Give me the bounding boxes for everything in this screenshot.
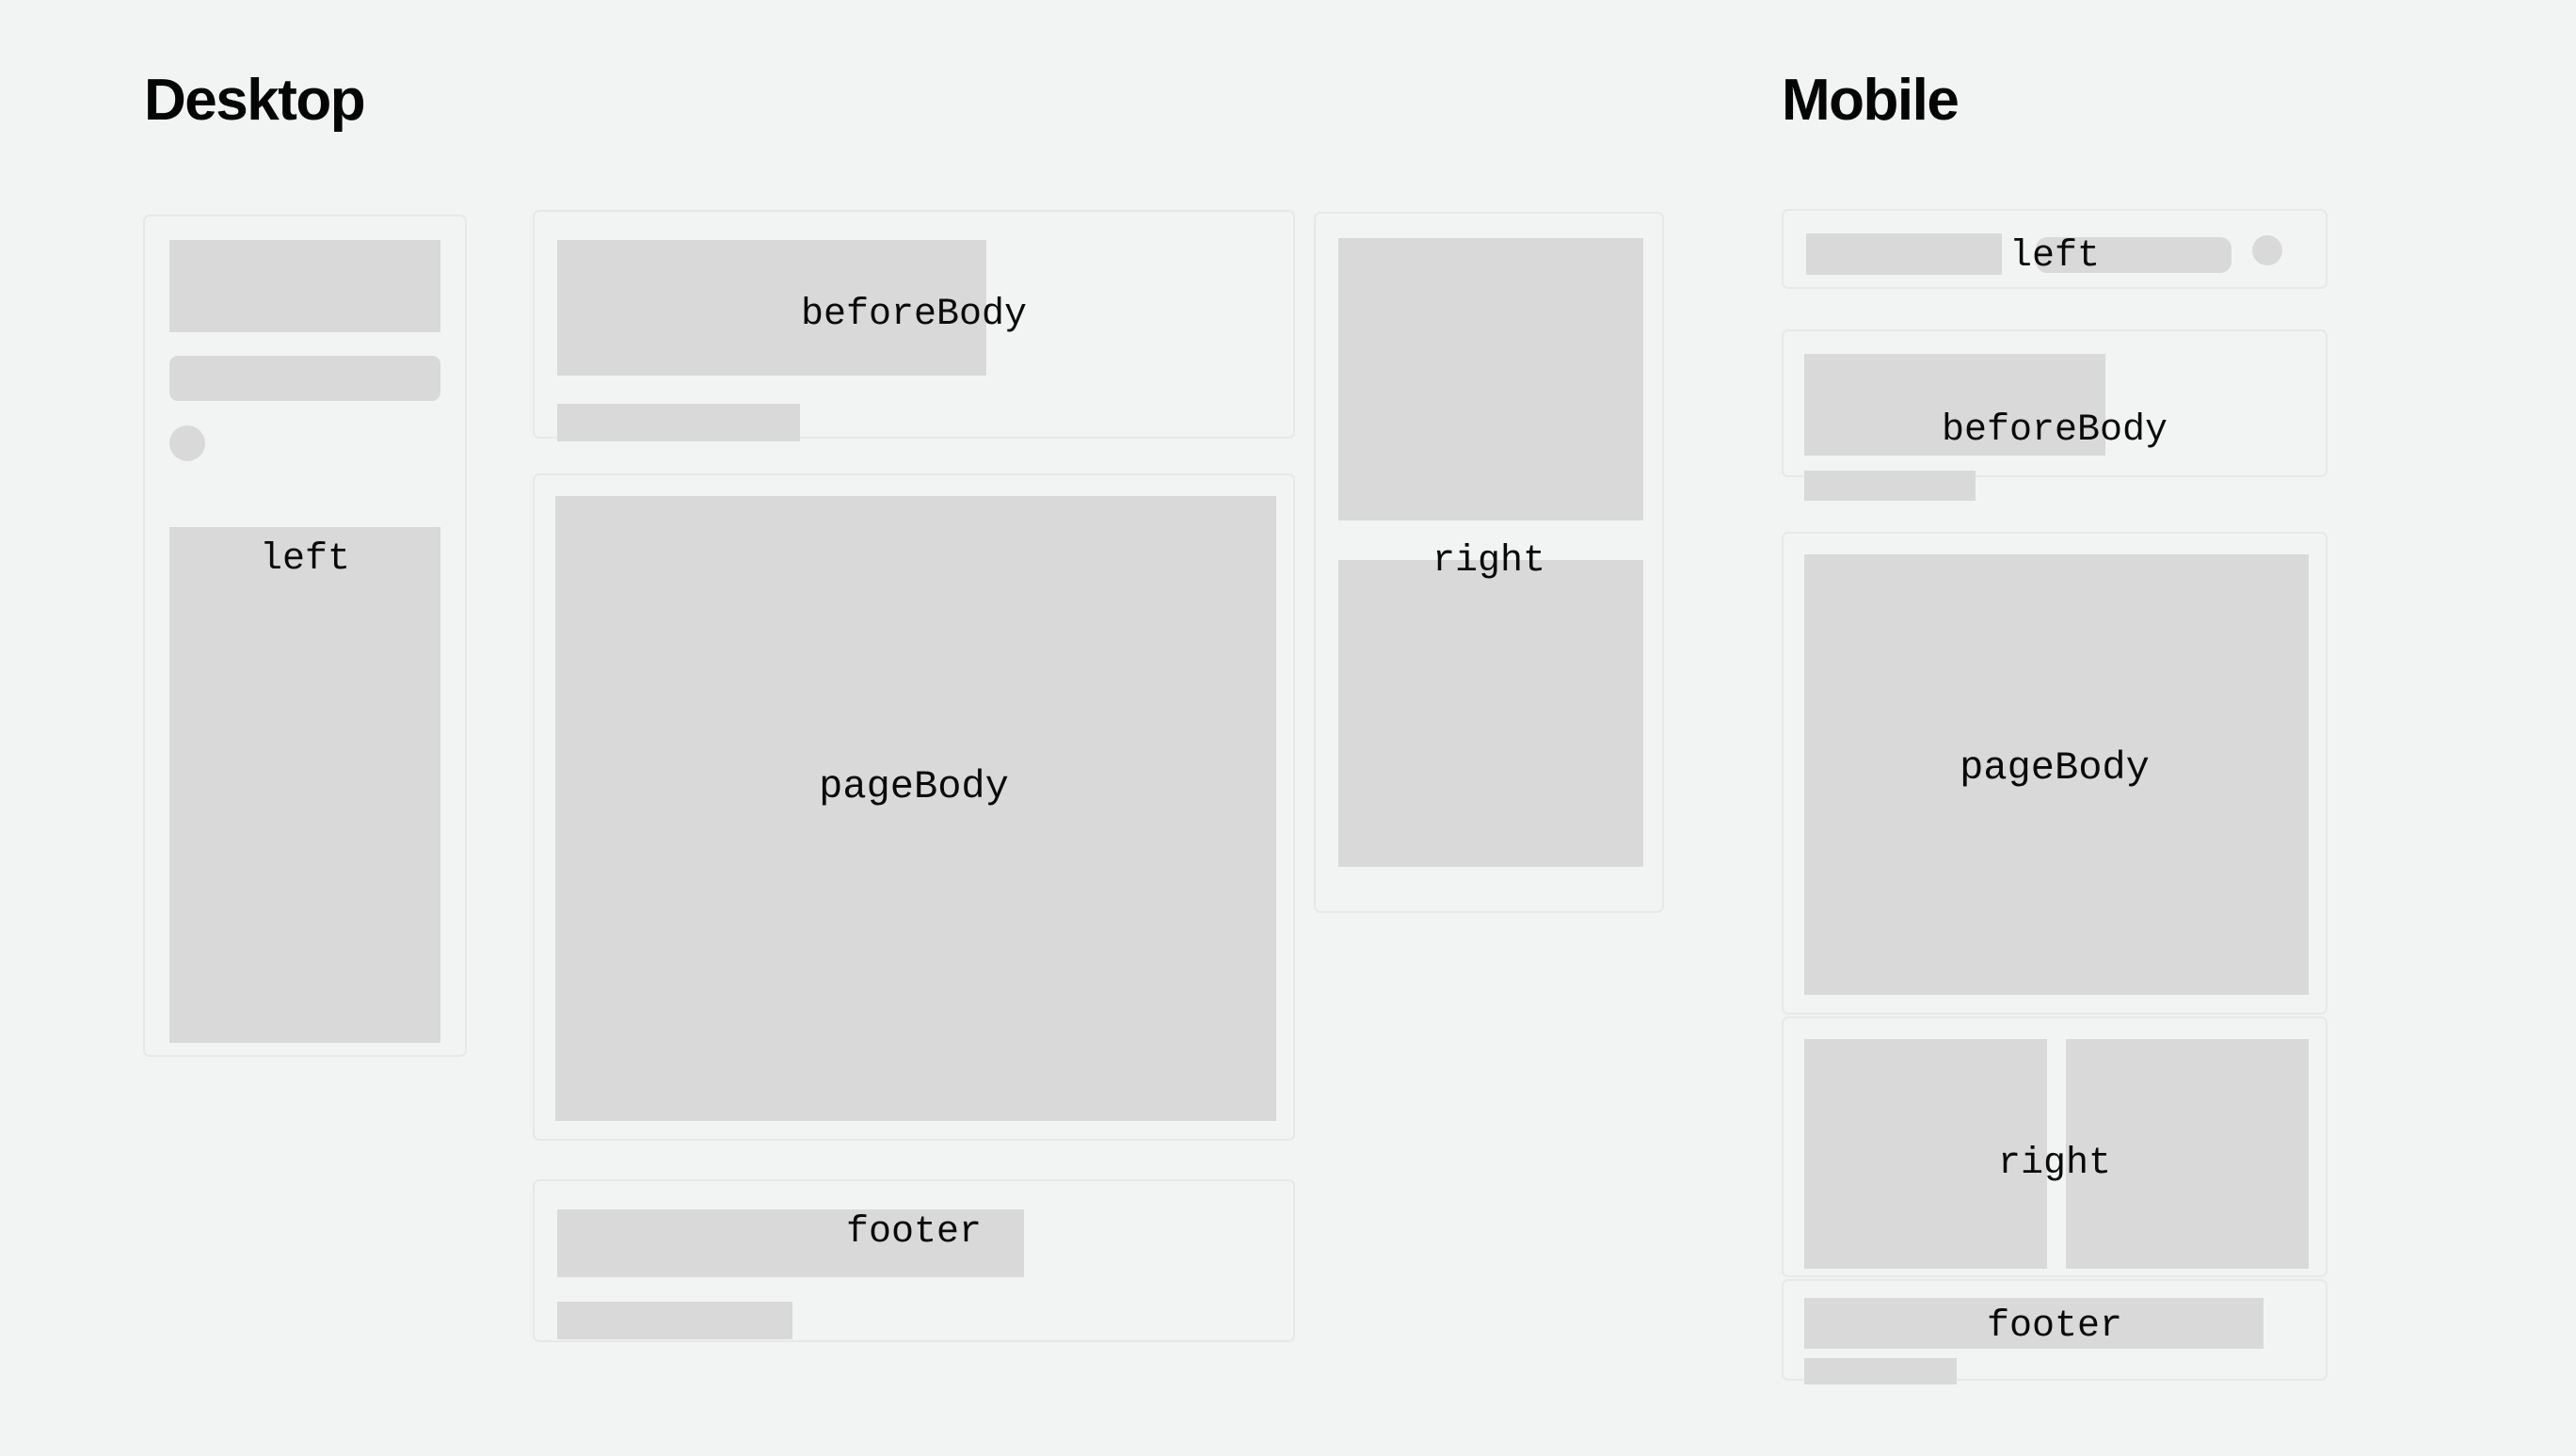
- desktop-right-slot-panel[interactable]: [1314, 212, 1664, 913]
- placeholder-block: [555, 496, 1276, 1121]
- mobile-right-slot-panel[interactable]: [1782, 1016, 2328, 1277]
- placeholder-block: [1804, 1358, 1957, 1384]
- placeholder-block: [169, 356, 440, 401]
- placeholder-block: [2066, 1039, 2309, 1269]
- placeholder-block: [169, 527, 440, 1043]
- placeholder-block: [557, 240, 986, 376]
- placeholder-block: [2036, 237, 2232, 273]
- placeholder-block: [1338, 560, 1643, 867]
- desktop-footer-slot-panel[interactable]: [533, 1179, 1295, 1342]
- placeholder-block: [1806, 233, 2002, 275]
- placeholder-block: [557, 404, 800, 441]
- placeholder-block: [169, 240, 440, 332]
- desktop-pagebody-slot-panel[interactable]: [533, 473, 1295, 1141]
- desktop-left-slot-panel[interactable]: [143, 215, 467, 1057]
- placeholder-avatar-circle: [2252, 235, 2282, 265]
- placeholder-block: [557, 1209, 1024, 1277]
- placeholder-block: [1804, 1039, 2047, 1269]
- mobile-left-slot-panel[interactable]: [1782, 209, 2328, 289]
- mobile-pagebody-slot-panel[interactable]: [1782, 532, 2328, 1015]
- page-title-desktop: Desktop: [144, 72, 364, 130]
- mobile-footer-slot-panel[interactable]: [1782, 1279, 2328, 1381]
- page-title-mobile: Mobile: [1782, 72, 1958, 130]
- desktop-beforebody-slot-panel[interactable]: [533, 210, 1295, 439]
- placeholder-block: [1338, 238, 1643, 520]
- mobile-beforebody-slot-panel[interactable]: [1782, 329, 2328, 477]
- placeholder-block: [1804, 354, 2105, 456]
- placeholder-block: [557, 1302, 792, 1339]
- placeholder-block: [1804, 1298, 2264, 1349]
- placeholder-block: [1804, 554, 2309, 995]
- placeholder-block: [1804, 471, 1976, 501]
- placeholder-avatar-circle: [169, 425, 205, 461]
